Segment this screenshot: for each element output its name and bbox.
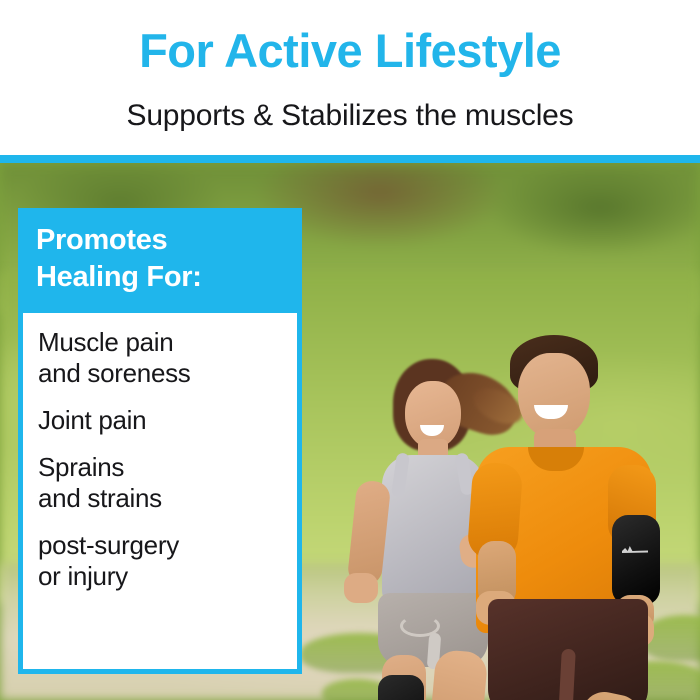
shorts-split [558,649,576,700]
list-item: Muscle pain and soreness [38,327,287,389]
list-item-line-1: Muscle pain [38,327,287,358]
header-section: For Active Lifestyle Supports & Stabiliz… [0,0,700,155]
list-item-line-2: and strains [38,483,287,514]
card-benefit-list: Muscle pain and soreness Joint pain Spra… [23,313,297,669]
knee-compression-sleeve [378,675,424,700]
elbow-compression-sleeve [612,515,660,605]
list-item-line-2: and soreness [38,358,287,389]
card-title: Promotes Healing For: [18,208,302,313]
list-item-line-1: post-surgery [38,530,287,561]
list-item-line-1: Sprains [38,452,287,483]
accent-divider [0,155,700,163]
promotes-healing-card: Promotes Healing For: Muscle pain and so… [18,208,302,674]
page-subtitle: Supports & Stabilizes the muscles [0,96,700,136]
list-item: Joint pain [38,405,287,436]
promo-banner: For Active Lifestyle Supports & Stabiliz… [0,0,700,700]
list-item: Sprains and strains [38,452,287,514]
card-title-line-2: Healing For: [36,259,302,296]
face [518,353,590,439]
card-title-line-1: Promotes [36,222,302,259]
list-item-line-1: Joint pain [38,405,287,436]
list-item-line-2: or injury [38,561,287,592]
list-item: post-surgery or injury [38,530,287,592]
page-title: For Active Lifestyle [0,22,700,80]
left-fist [344,573,378,603]
